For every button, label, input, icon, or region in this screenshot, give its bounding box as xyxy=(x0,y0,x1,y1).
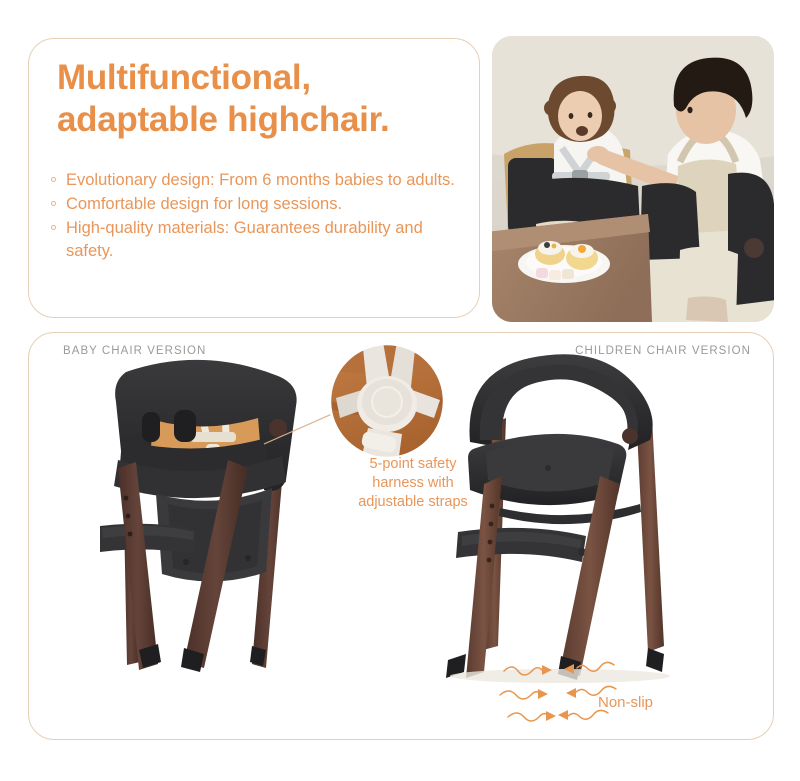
non-slip-arrows-icon xyxy=(498,655,618,727)
infographic-root: Multifunctional, adaptable highchair. Ev… xyxy=(0,0,800,781)
baby-chair-image: mp xyxy=(78,348,338,688)
callout-harness-line-1: 5-point safety xyxy=(322,455,504,474)
callout-harness-text: 5-point safety harness with adjustable s… xyxy=(322,455,504,512)
children-chair-image xyxy=(440,348,690,684)
chair-illustrations: mp xyxy=(0,0,800,781)
harness-detail-inset xyxy=(328,342,446,460)
callout-harness-line-3: adjustable straps xyxy=(322,493,504,512)
callout-harness-line-2: harness with xyxy=(322,474,504,493)
callout-non-slip-text: Non-slip xyxy=(598,694,653,711)
